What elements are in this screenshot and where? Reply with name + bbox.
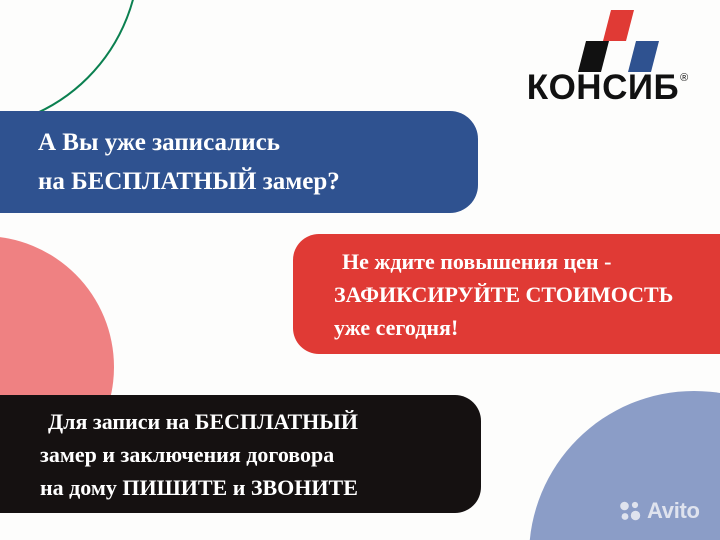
konsib-wordmark: КОНСИБ — [527, 70, 679, 105]
banner-red-line-1: Не ждите повышения цен - — [334, 245, 720, 278]
banner-black-line-2: замер и заключения договора — [40, 438, 481, 471]
konsib-logo: КОНСИБ® — [512, 8, 702, 108]
banner-blue-line-2: на БЕСПЛАТНЫЙ замер? — [38, 162, 478, 201]
banner-free-measurement-question: А Вы уже записались на БЕСПЛАТНЫЙ замер? — [0, 111, 478, 213]
avito-watermark-text: Avito — [647, 500, 700, 522]
registered-trademark-symbol: ® — [680, 72, 688, 84]
avito-dots-icon — [620, 501, 642, 521]
banner-black-line-3: на дому ПИШИТЕ и ЗВОНИТЕ — [40, 471, 481, 504]
avito-watermark: Avito — [620, 500, 700, 522]
banner-price-lock-offer: Не ждите повышения цен - ЗАФИКСИРУЙТЕ СТ… — [293, 234, 720, 354]
konsib-logo-mark-icon — [578, 8, 660, 74]
promo-poster: КОНСИБ® А Вы уже записались на БЕСПЛАТНЫ… — [0, 0, 720, 540]
konsib-wordmark-wrap: КОНСИБ® — [512, 70, 702, 105]
banner-red-line-2: ЗАФИКСИРУЙТЕ СТОИМОСТЬ — [334, 278, 720, 311]
banner-red-line-3: уже сегодня! — [334, 311, 720, 344]
banner-blue-line-1: А Вы уже записались — [38, 123, 478, 162]
banner-black-line-1: Для записи на БЕСПЛАТНЫЙ — [40, 405, 481, 438]
banner-contact-call-to-action: Для записи на БЕСПЛАТНЫЙ замер и заключе… — [0, 395, 481, 513]
